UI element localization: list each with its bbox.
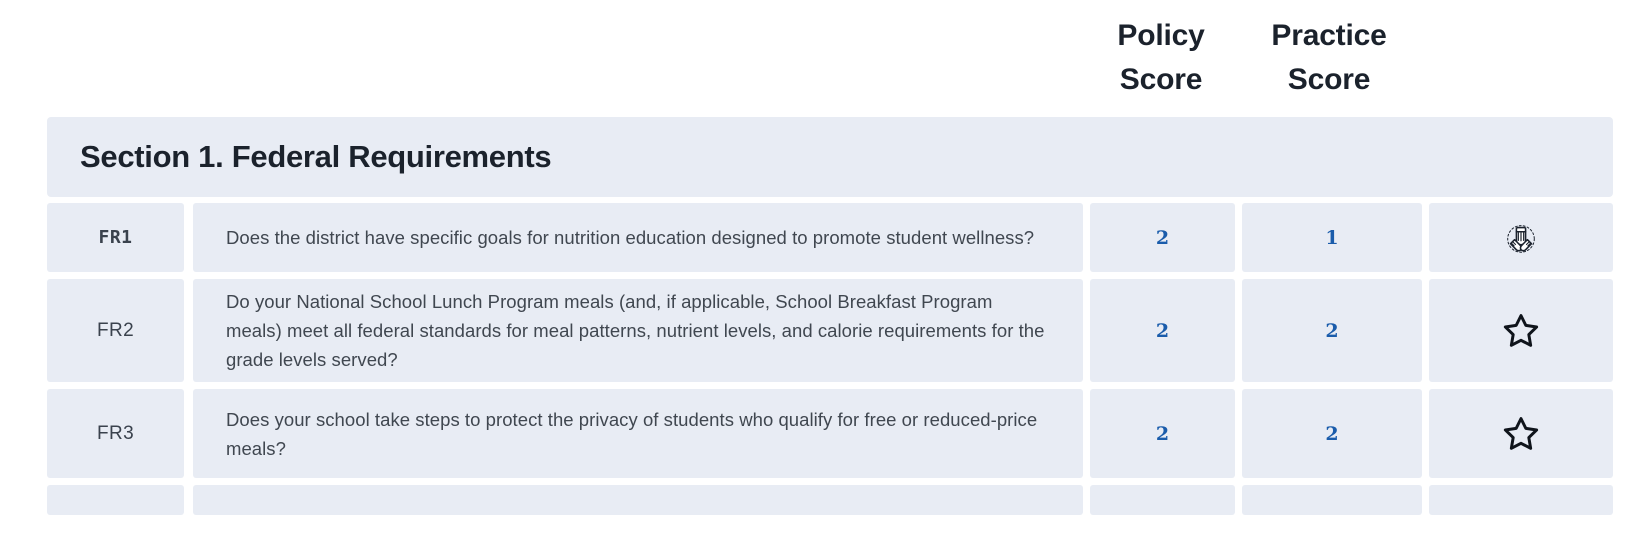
question-row-list: FR1 Does the district have specific goal… [0,203,1639,522]
teamwork-hands-icon[interactable] [1499,216,1543,260]
practice-score-value: 2 [1325,320,1338,342]
star-outline-icon[interactable] [1500,413,1542,455]
marker-cell[interactable] [1429,389,1613,478]
policy-score-column-header: Policy Score [1088,14,1234,102]
table-row[interactable]: FR2 Do your National School Lunch Progra… [0,279,1639,382]
question-text-cell: Does the district have specific goals fo… [193,203,1083,272]
question-code-label: FR3 [97,423,134,445]
star-outline-icon[interactable] [1500,310,1542,352]
question-text-cell [193,485,1083,515]
practice-score-column-header: Practice Score [1238,14,1420,102]
policy-score-value: 2 [1156,320,1169,342]
table-row[interactable]: FR3 Does your school take steps to prote… [0,389,1639,478]
question-code-cell: FR2 [47,279,184,382]
question-code-label: FR1 [98,227,132,248]
policy-score-cell[interactable]: 2 [1090,203,1235,272]
question-code-cell: FR1 [47,203,184,272]
marker-cell[interactable] [1429,279,1613,382]
assessment-scorecard: Policy Score Practice Score Section 1. F… [0,0,1639,533]
practice-score-cell[interactable]: 2 [1242,389,1422,478]
policy-score-header-line2: Score [1088,58,1234,102]
table-row[interactable] [0,485,1639,515]
policy-score-cell[interactable]: 2 [1090,389,1235,478]
policy-score-cell[interactable] [1090,485,1235,515]
section-header-banner: Section 1. Federal Requirements [47,117,1613,197]
policy-score-cell[interactable]: 2 [1090,279,1235,382]
practice-score-value: 1 [1325,227,1338,249]
marker-cell[interactable] [1429,203,1613,272]
question-text: Does your school take steps to protect t… [226,405,1047,463]
question-text-cell: Does your school take steps to protect t… [193,389,1083,478]
policy-score-header-line1: Policy [1088,14,1234,58]
question-code-label: FR2 [97,320,134,342]
policy-score-value: 2 [1156,423,1169,445]
question-code-cell: FR3 [47,389,184,478]
question-text: Do your National School Lunch Program me… [226,287,1047,374]
question-text-cell: Do your National School Lunch Program me… [193,279,1083,382]
table-row[interactable]: FR1 Does the district have specific goal… [0,203,1639,272]
practice-score-cell[interactable] [1242,485,1422,515]
section-title: Section 1. Federal Requirements [47,139,551,175]
practice-score-cell[interactable]: 2 [1242,279,1422,382]
question-code-cell [47,485,184,515]
practice-score-value: 2 [1325,423,1338,445]
practice-score-header-line1: Practice [1238,14,1420,58]
marker-cell[interactable] [1429,485,1613,515]
column-headers: Policy Score Practice Score [0,0,1639,112]
question-text: Does the district have specific goals fo… [226,223,1034,252]
practice-score-cell[interactable]: 1 [1242,203,1422,272]
practice-score-header-line2: Score [1238,58,1420,102]
policy-score-value: 2 [1156,227,1169,249]
